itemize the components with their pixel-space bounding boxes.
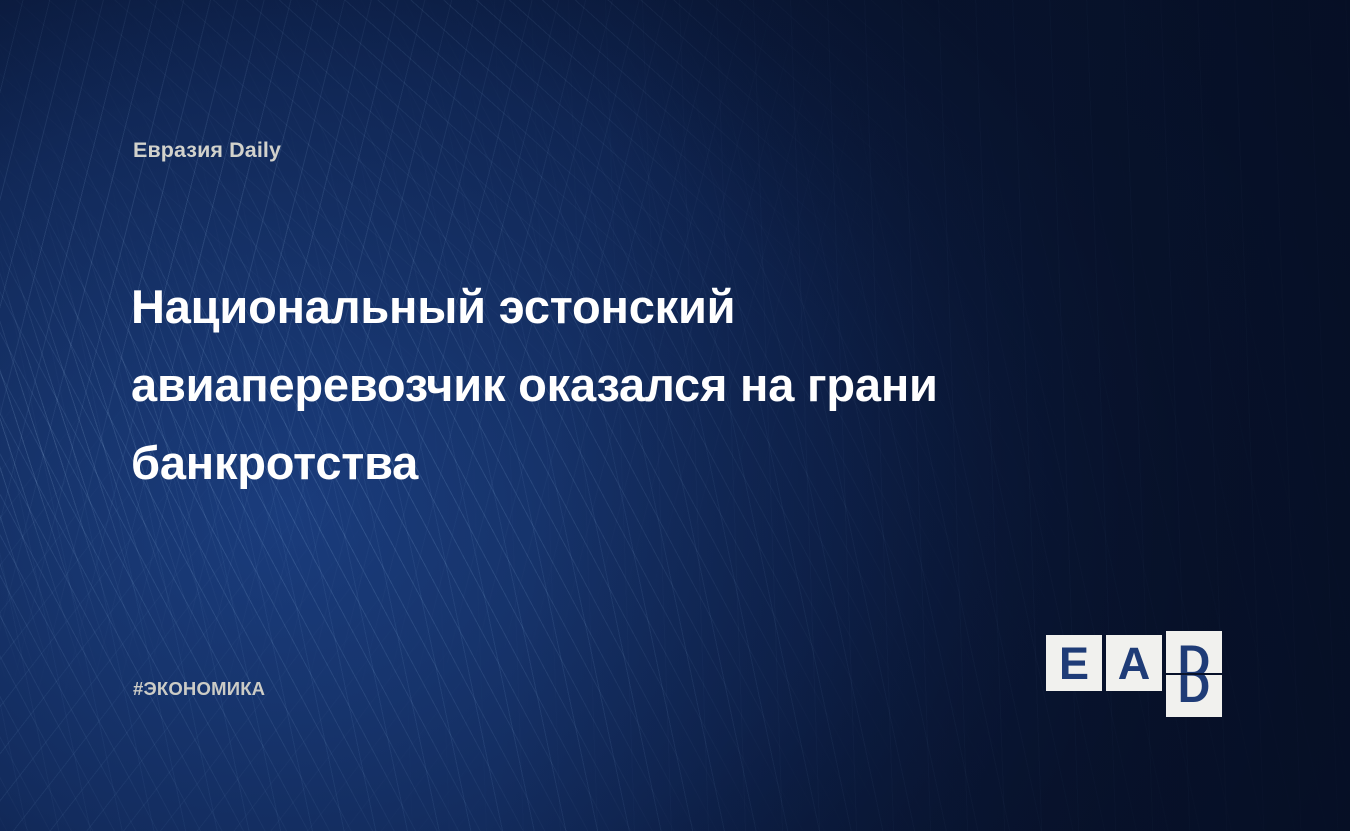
logo-letter-e: E (1059, 641, 1089, 686)
logo-tile-a: A (1106, 635, 1162, 691)
logo-tile-d-bottom: D (1166, 675, 1222, 717)
headline-line-2: авиаперевозчик оказался на грани (131, 346, 1131, 424)
logo-letter-d-top: D (1178, 639, 1211, 674)
eadaily-logo[interactable]: E A D D (1046, 631, 1222, 713)
logo-letter-a: A (1118, 641, 1151, 686)
category-tag[interactable]: #ЭКОНОМИКА (133, 678, 265, 700)
headline-line-1: Национальный эстонский (131, 268, 1131, 346)
logo-letter-d-bottom: D (1178, 675, 1211, 709)
logo-tile-e: E (1046, 635, 1102, 691)
page-title: Национальный эстонский авиаперевозчик ок… (131, 268, 1131, 502)
site-logo-text: Евразия Daily (133, 138, 281, 163)
headline-line-3: банкротства (131, 424, 1131, 502)
logo-tile-d-top: D (1166, 631, 1222, 673)
share-card: Евразия Daily Национальный эстонский ави… (0, 0, 1350, 831)
card-content: Евразия Daily Национальный эстонский ави… (0, 0, 1350, 831)
